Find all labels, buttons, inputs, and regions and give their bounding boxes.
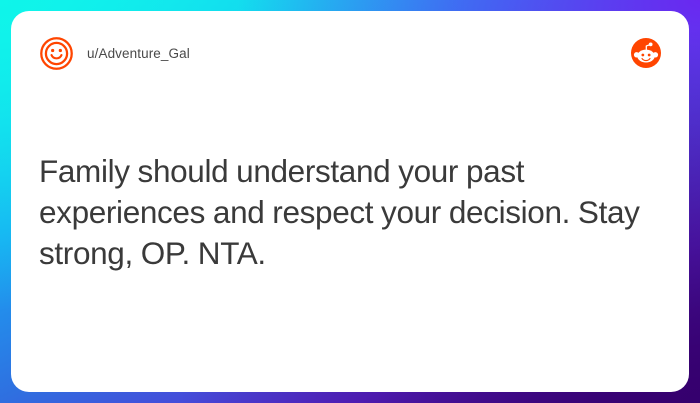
quote-text: Family should understand your past exper… xyxy=(39,151,649,274)
gradient-background: u/Adventure_Gal xyxy=(0,0,700,403)
card-body: Family should understand your past exper… xyxy=(39,151,649,274)
reddit-snoo-icon[interactable] xyxy=(631,38,661,68)
author-username: u/Adventure_Gal xyxy=(87,46,190,61)
author-block[interactable]: u/Adventure_Gal xyxy=(39,36,190,71)
card-header: u/Adventure_Gal xyxy=(11,11,689,95)
quote-card: u/Adventure_Gal xyxy=(11,11,689,392)
smiley-face-icon xyxy=(39,36,74,71)
